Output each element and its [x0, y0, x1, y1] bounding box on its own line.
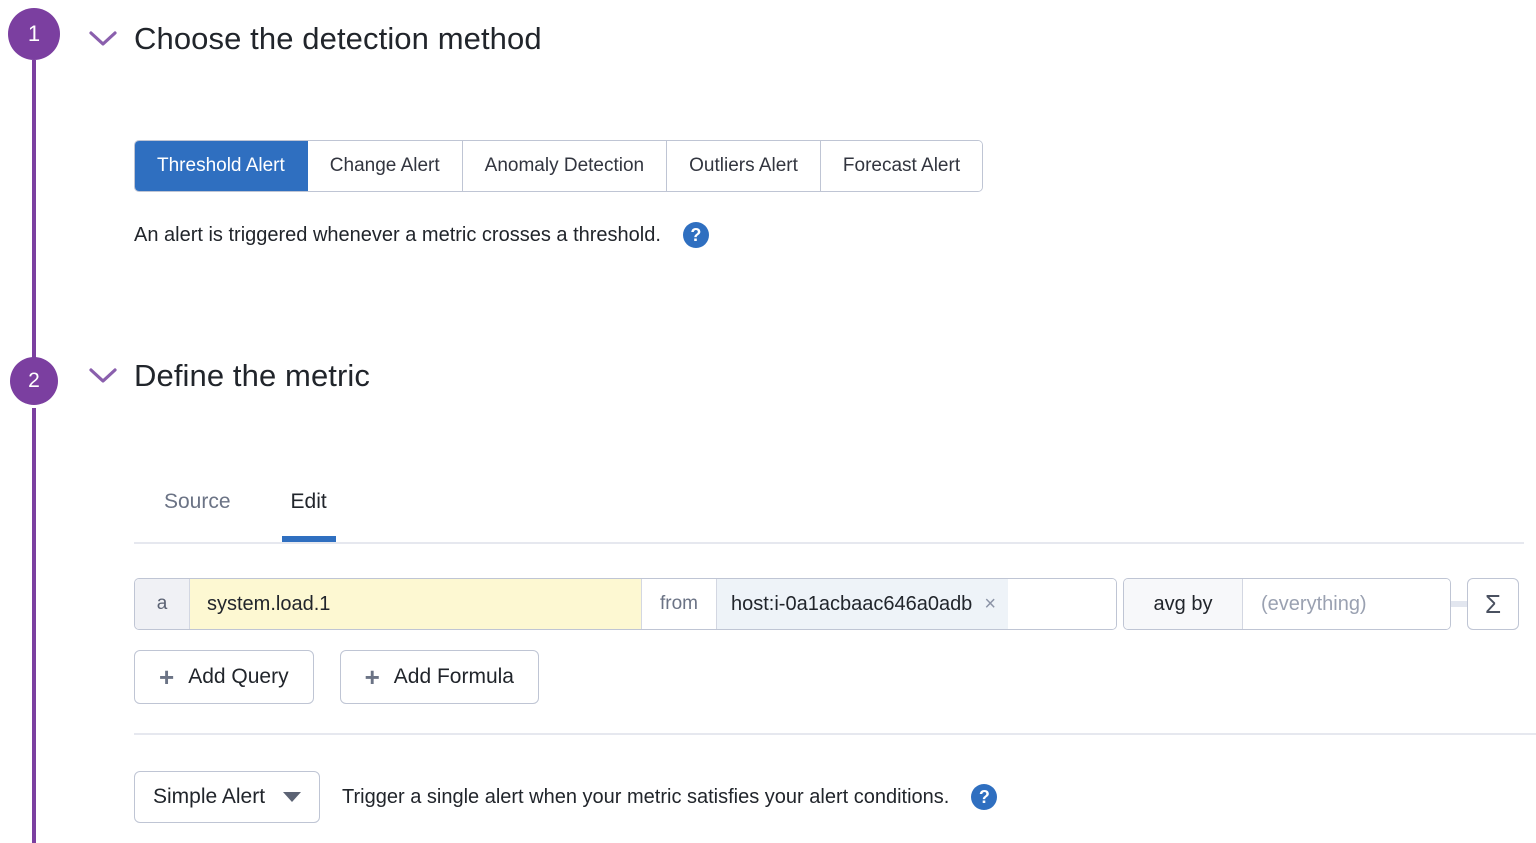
scope-tag-label: host:i-0a1acbaac646a0adb	[731, 593, 972, 616]
stepper-rail-2	[32, 408, 36, 843]
from-label: from	[642, 579, 717, 629]
chevron-down-icon[interactable]	[82, 18, 124, 60]
query-letter-badge: a	[135, 579, 190, 629]
metric-name-input[interactable]: system.load.1	[190, 579, 642, 629]
metric-editor-tabs: Source Edit	[134, 486, 1524, 544]
query-connector	[1451, 578, 1467, 630]
alert-type-description: Trigger a single alert when your metric …	[342, 784, 997, 810]
tab-change-alert-label: Change Alert	[330, 155, 440, 177]
tab-forecast-alert-label: Forecast Alert	[843, 155, 960, 177]
chevron-down-icon	[283, 792, 301, 802]
sigma-function-button[interactable]: Σ	[1467, 578, 1519, 630]
stepper-rail-1	[32, 60, 36, 358]
query-actions: + Add Query + Add Formula	[134, 650, 539, 704]
section-header-detection-method[interactable]: Choose the detection method	[82, 18, 542, 60]
tab-outliers-alert[interactable]: Outliers Alert	[667, 141, 821, 191]
close-icon[interactable]: ×	[984, 593, 996, 616]
aggregator-label: avg by	[1154, 593, 1213, 616]
scope-tags-input[interactable]: host:i-0a1acbaac646a0adb ×	[717, 579, 1116, 629]
help-icon[interactable]: ?	[683, 222, 709, 248]
add-formula-button[interactable]: + Add Formula	[340, 650, 539, 704]
plus-icon: +	[159, 664, 174, 690]
query-main-group: a system.load.1 from host:i-0a1acbaac646…	[134, 578, 1117, 630]
tab-edit[interactable]: Edit	[261, 486, 357, 540]
aggregation-group: avg by (everything)	[1123, 578, 1451, 630]
section-title-define-metric: Define the metric	[134, 358, 370, 394]
add-formula-label: Add Formula	[394, 665, 514, 689]
section-divider	[134, 733, 1536, 735]
aggregator-select[interactable]: avg by	[1124, 579, 1243, 629]
tab-anomaly-detection[interactable]: Anomaly Detection	[463, 141, 667, 191]
plus-icon: +	[365, 664, 380, 690]
alert-type-select[interactable]: Simple Alert	[134, 771, 320, 823]
alert-type-value: Simple Alert	[153, 785, 265, 809]
alert-type-row: Simple Alert Trigger a single alert when…	[134, 771, 997, 823]
chevron-down-icon[interactable]	[82, 355, 124, 397]
query-letter-label: a	[157, 593, 168, 615]
scope-tag-chip[interactable]: host:i-0a1acbaac646a0adb ×	[717, 579, 1008, 629]
from-label-text: from	[660, 593, 698, 615]
step-indicator-1[interactable]: 1	[8, 8, 60, 60]
add-query-button[interactable]: + Add Query	[134, 650, 314, 704]
step-number-1: 1	[28, 21, 40, 46]
tab-change-alert[interactable]: Change Alert	[308, 141, 463, 191]
alert-type-description-text: Trigger a single alert when your metric …	[342, 786, 949, 809]
query-row: a system.load.1 from host:i-0a1acbaac646…	[134, 578, 1519, 630]
section-header-define-metric[interactable]: Define the metric	[82, 355, 370, 397]
detection-method-description: An alert is triggered whenever a metric …	[134, 222, 709, 248]
detection-method-tabs: Threshold Alert Change Alert Anomaly Det…	[134, 140, 983, 192]
tab-forecast-alert[interactable]: Forecast Alert	[821, 141, 982, 191]
help-icon[interactable]: ?	[971, 784, 997, 810]
section-title-detection-method: Choose the detection method	[134, 21, 542, 57]
sigma-icon: Σ	[1485, 589, 1501, 620]
tab-threshold-alert[interactable]: Threshold Alert	[135, 141, 308, 191]
detection-method-description-text: An alert is triggered whenever a metric …	[134, 224, 661, 247]
add-query-label: Add Query	[188, 665, 288, 689]
metric-name-value: system.load.1	[207, 593, 330, 616]
tab-source-label: Source	[164, 490, 231, 513]
tab-edit-label: Edit	[291, 490, 327, 513]
step-number-2: 2	[28, 369, 40, 392]
tab-source[interactable]: Source	[134, 486, 261, 540]
step-indicator-2[interactable]: 2	[10, 357, 58, 405]
tab-anomaly-detection-label: Anomaly Detection	[485, 155, 644, 177]
tab-threshold-alert-label: Threshold Alert	[157, 155, 285, 177]
tab-outliers-alert-label: Outliers Alert	[689, 155, 798, 177]
group-by-placeholder: (everything)	[1261, 593, 1367, 616]
group-by-input[interactable]: (everything)	[1243, 579, 1450, 629]
